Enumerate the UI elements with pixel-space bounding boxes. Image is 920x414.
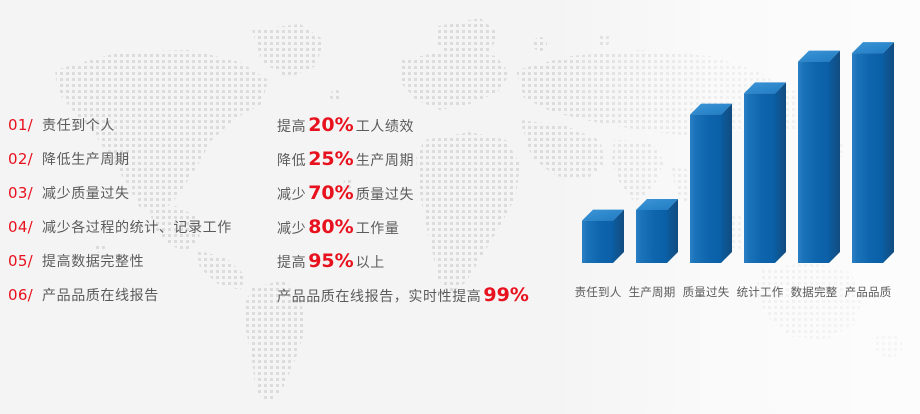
bar-column	[798, 51, 840, 263]
metric-prefix: 提高	[277, 255, 306, 271]
list-item-label: 产品品质在线报告	[42, 288, 159, 304]
list-item: 03/减少质量过失	[8, 176, 268, 210]
list-item: 降低25%生产周期	[277, 142, 567, 176]
bar-front-face	[636, 210, 667, 263]
bar-side-face	[721, 104, 732, 263]
list-item-number: 05/	[8, 244, 42, 278]
metric-prefix: 减少	[277, 221, 306, 237]
metric-suffix: 工作量	[356, 221, 400, 237]
list-item-label: 责任到个人	[42, 118, 115, 134]
list-item: 01/责任到个人	[8, 108, 268, 142]
category-label: 产品品质	[838, 284, 898, 300]
bar-front-face	[798, 62, 829, 263]
bar-front-face	[690, 115, 721, 263]
benefits-bar-chart: 责任到人 生产周期 质量过失 统计工作 数据完整 产品品质	[570, 16, 920, 316]
category-label: 生产周期	[622, 284, 682, 300]
list-item: 减少70%质量过失	[277, 176, 567, 210]
bar-group	[582, 42, 894, 263]
list-item-number: 03/	[8, 176, 42, 210]
metric-percentage: 70%	[306, 182, 355, 204]
metric-suffix: 以上	[356, 255, 385, 271]
benefits-number-list: 01/责任到个人 02/降低生产周期 03/减少质量过失 04/减少各过程的统计…	[8, 108, 268, 312]
metric-suffix: 生产周期	[356, 153, 414, 169]
metric-prefix: 减少	[277, 187, 306, 203]
bar-column	[690, 104, 732, 263]
bar-side-face	[667, 199, 678, 263]
metric-prefix: 产品品质在线报告，实时性提高	[277, 289, 481, 305]
bar-column	[582, 210, 624, 263]
bar-front-face	[852, 53, 883, 263]
list-item: 04/减少各过程的统计、记录工作	[8, 210, 268, 244]
metric-percentage: 25%	[306, 148, 355, 170]
bar-side-face	[775, 82, 786, 263]
list-item-number: 02/	[8, 142, 42, 176]
metric-percentage: 80%	[306, 216, 355, 238]
list-item: 05/提高数据完整性	[8, 244, 268, 278]
category-label: 质量过失	[676, 284, 736, 300]
list-item-label: 减少质量过失	[42, 186, 130, 202]
bar-chart-svg	[570, 16, 920, 268]
list-item-label: 提高数据完整性	[42, 254, 144, 270]
list-item-label: 降低生产周期	[42, 152, 130, 168]
bar-column	[852, 42, 894, 263]
bar-side-face	[883, 42, 894, 263]
list-item-label: 减少各过程的统计、记录工作	[42, 220, 232, 236]
metric-prefix: 提高	[277, 119, 306, 135]
infographic-canvas: 01/责任到个人 02/降低生产周期 03/减少质量过失 04/减少各过程的统计…	[0, 0, 920, 414]
bar-side-face	[829, 51, 840, 263]
metric-prefix: 降低	[277, 153, 306, 169]
list-item: 提高95%以上	[277, 244, 567, 278]
metric-suffix: 工人绩效	[356, 119, 414, 135]
list-item: 减少80%工作量	[277, 210, 567, 244]
metric-percentage: 20%	[306, 114, 355, 136]
metric-suffix: 质量过失	[356, 187, 414, 203]
list-item: 02/降低生产周期	[8, 142, 268, 176]
list-item-number: 04/	[8, 210, 42, 244]
metric-percentage: 99%	[481, 284, 530, 306]
list-item: 06/产品品质在线报告	[8, 278, 268, 312]
metric-percentage: 95%	[306, 250, 355, 272]
benefits-percentage-list: 提高20%工人绩效 降低25%生产周期 减少70%质量过失 减少80%工作量 提…	[277, 108, 567, 312]
list-item: 提高20%工人绩效	[277, 108, 567, 142]
bar-column	[636, 199, 678, 263]
category-label: 数据完整	[784, 284, 844, 300]
list-item: 产品品质在线报告，实时性提高99%	[277, 278, 567, 312]
category-label: 统计工作	[730, 284, 790, 300]
list-item-number: 06/	[8, 278, 42, 312]
bar-column	[744, 82, 786, 263]
bar-front-face	[744, 93, 775, 263]
bar-chart-category-labels: 责任到人 生产周期 质量过失 统计工作 数据完整 产品品质	[570, 284, 920, 308]
list-item-number: 01/	[8, 108, 42, 142]
bar-front-face	[582, 221, 613, 263]
category-label: 责任到人	[568, 284, 628, 300]
